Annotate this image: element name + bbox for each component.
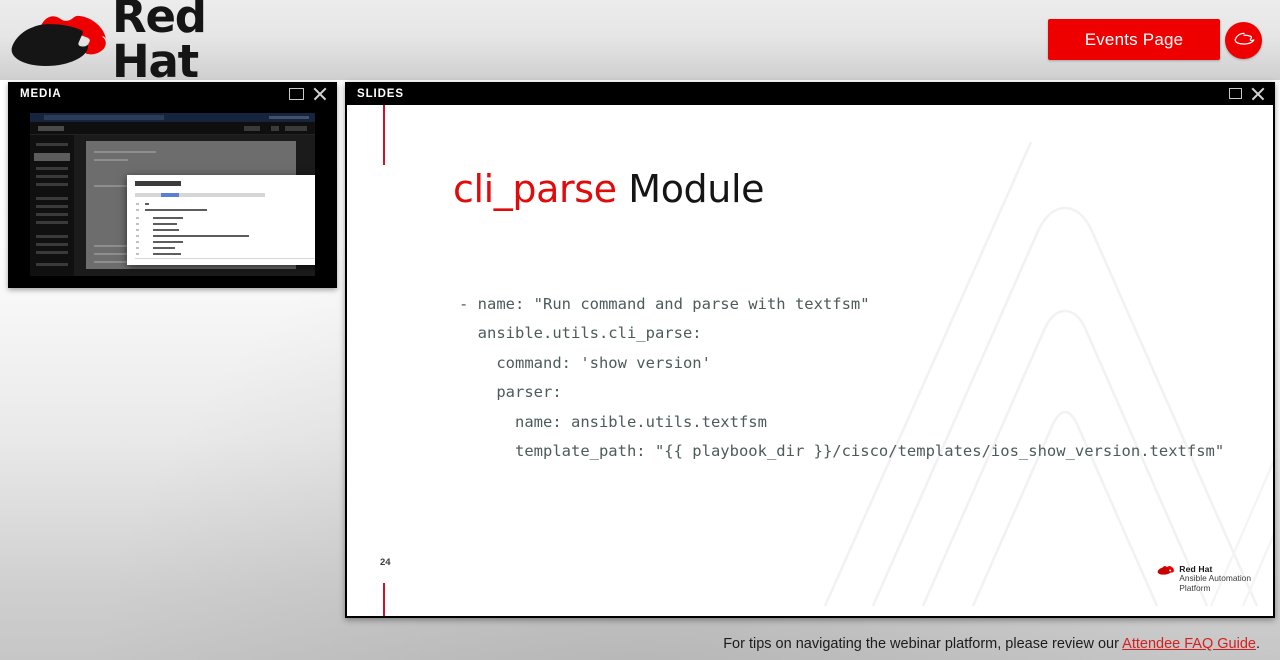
footer-tip-text: For tips on navigating the webinar platf… xyxy=(723,636,1122,652)
media-video-stage[interactable] xyxy=(8,106,337,288)
brand-header: Red Hat Events Page xyxy=(0,0,1280,80)
footer-tip: For tips on navigating the webinar platf… xyxy=(723,636,1260,652)
slides-panel-title: SLIDES xyxy=(345,88,1229,100)
media-panel-title: MEDIA xyxy=(8,88,289,100)
slide-footer-logo: Red Hat Ansible Automation Platform xyxy=(1157,563,1251,594)
redhat-help-badge-button[interactable] xyxy=(1225,22,1262,59)
slide-title-rest: Module xyxy=(617,167,764,211)
webinar-viewer: Red Hat Events Page MEDIA xyxy=(0,0,1280,660)
slide-accent-line-top xyxy=(383,105,385,165)
media-panel: MEDIA xyxy=(8,82,337,288)
slide-code-block: - name: "Run command and parse with text… xyxy=(459,290,1224,466)
thumb-sidebar xyxy=(30,135,74,276)
redhat-fedora-icon xyxy=(1157,563,1174,581)
webinar-video-thumbnail xyxy=(30,113,315,276)
media-panel-titlebar: MEDIA xyxy=(8,82,337,106)
slide-page-number: 24 xyxy=(380,557,391,568)
events-page-button[interactable]: Events Page xyxy=(1048,19,1220,60)
slide-title-accent: cli_parse xyxy=(453,167,617,211)
redhat-logo: Red Hat xyxy=(8,4,278,74)
redhat-fedora-badge-icon xyxy=(1232,27,1255,55)
attendee-faq-guide-link[interactable]: Attendee FAQ Guide xyxy=(1122,636,1256,652)
thumb-app-header xyxy=(30,122,315,135)
thumb-modal-dialog xyxy=(127,175,315,265)
footer-tip-period: . xyxy=(1256,636,1260,652)
brand-wordmark: Red Hat xyxy=(112,0,278,84)
slide-accent-line-bottom xyxy=(383,583,385,616)
thumb-main-area xyxy=(74,135,315,276)
slide-logo-line2: Platform xyxy=(1179,584,1251,594)
redhat-fedora-icon xyxy=(8,8,106,70)
restore-window-icon[interactable] xyxy=(1229,88,1242,99)
close-icon[interactable] xyxy=(312,86,328,102)
close-icon[interactable] xyxy=(1250,86,1266,102)
slide-canvas[interactable]: cli_parse Module - name: "Run command an… xyxy=(347,105,1273,616)
thumb-browser-chrome xyxy=(30,113,315,122)
slides-panel-titlebar: SLIDES xyxy=(345,82,1275,105)
slides-panel: SLIDES xyxy=(345,82,1275,618)
slide-title: cli_parse Module xyxy=(453,167,764,211)
restore-window-icon[interactable] xyxy=(289,88,304,100)
